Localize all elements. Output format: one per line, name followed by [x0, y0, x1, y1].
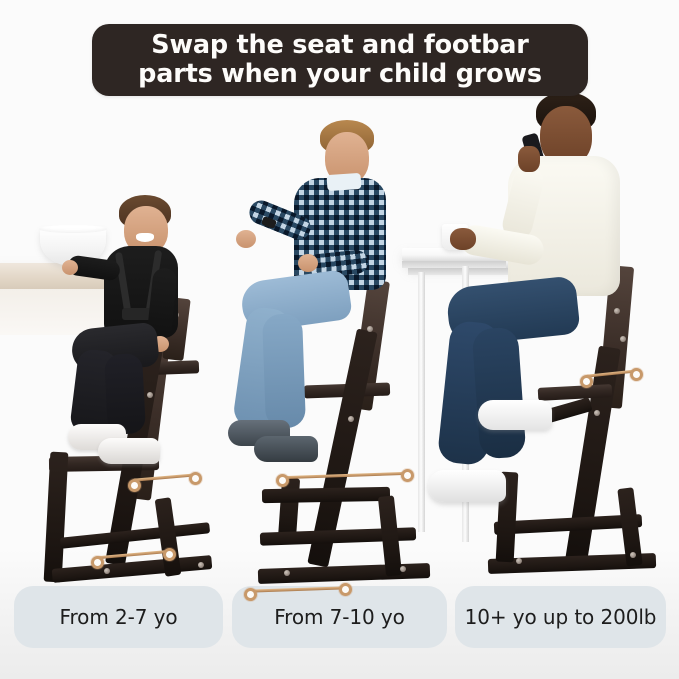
footbar-rod-knob-left: [244, 588, 257, 601]
scene-adult: [430, 100, 679, 570]
toddler-shoe-right: [98, 438, 160, 464]
footbar-rod-knob-right: [163, 548, 176, 561]
seat-rod-knob-right: [630, 368, 643, 381]
screw-base-right: [400, 566, 406, 572]
adult-shoe-right: [478, 400, 552, 430]
footbar-rod-knob-right: [339, 583, 352, 596]
screw-base-right: [198, 562, 204, 568]
teen-right-hand: [298, 254, 318, 272]
scenes-row: [0, 100, 679, 570]
footbar-rod-knob-left: [91, 556, 104, 569]
caption-pill-age-2-7: From 2-7 yo: [14, 586, 223, 648]
desk-edge: [402, 261, 506, 268]
chair-footrest: [262, 487, 390, 503]
chair-base-crossbar: [60, 522, 210, 549]
teen-collar: [326, 173, 361, 191]
seat-rod-knob-right: [189, 472, 202, 485]
seat-rod-knob-right: [401, 469, 414, 482]
adult-phone-hand: [518, 146, 540, 172]
desk-leg: [418, 272, 425, 532]
banner-line-1: Swap the seat and footbar: [138, 31, 542, 60]
scene-teen: [222, 100, 452, 570]
seat-rod-knob-left: [128, 479, 141, 492]
adult-shin-2: [472, 327, 527, 460]
caption-pill-age-10-plus: 10+ yo up to 200lb: [455, 586, 666, 648]
header-banner: Swap the seat and footbar parts when you…: [92, 24, 588, 96]
scene-toddler: [0, 100, 240, 570]
banner-heading: Swap the seat and footbar parts when you…: [128, 31, 552, 89]
banner-line-2: parts when your child grows: [138, 60, 542, 89]
screw-base-left: [516, 558, 522, 564]
screw-mid: [147, 392, 153, 398]
infographic-stage: Swap the seat and footbar parts when you…: [0, 0, 679, 679]
seat-rod-knob-left: [580, 375, 593, 388]
teen-shoe-right: [254, 436, 318, 462]
toddler-smile: [136, 233, 154, 242]
adult-left-hand: [450, 228, 476, 250]
teen-shin-2: [262, 313, 306, 428]
screw-mid: [348, 416, 354, 422]
toddler-left-hand: [62, 260, 78, 275]
caption-pill-label: From 2-7 yo: [60, 605, 178, 629]
seat-rod-knob-left: [276, 474, 289, 487]
caption-pill-age-7-10: From 7-10 yo: [232, 586, 447, 648]
caption-pill-label: 10+ yo up to 200lb: [465, 605, 657, 629]
caption-pills-row: From 2-7 yo From 7-10 yo 10+ yo up to 20…: [0, 586, 679, 654]
caption-pill-label: From 7-10 yo: [274, 605, 405, 629]
screw-base-left: [104, 568, 110, 574]
screw-mid: [594, 410, 600, 416]
screw-upper-2: [620, 336, 626, 342]
screw-upper: [367, 326, 373, 332]
screw-upper: [614, 308, 620, 314]
chair-left-rail: [44, 452, 69, 583]
screw-base-right: [630, 552, 636, 558]
teen-left-hand: [236, 230, 256, 248]
screw-base-left: [284, 570, 290, 576]
adult-shoe-left: [428, 470, 506, 502]
toddler-shin-2: [104, 353, 146, 435]
